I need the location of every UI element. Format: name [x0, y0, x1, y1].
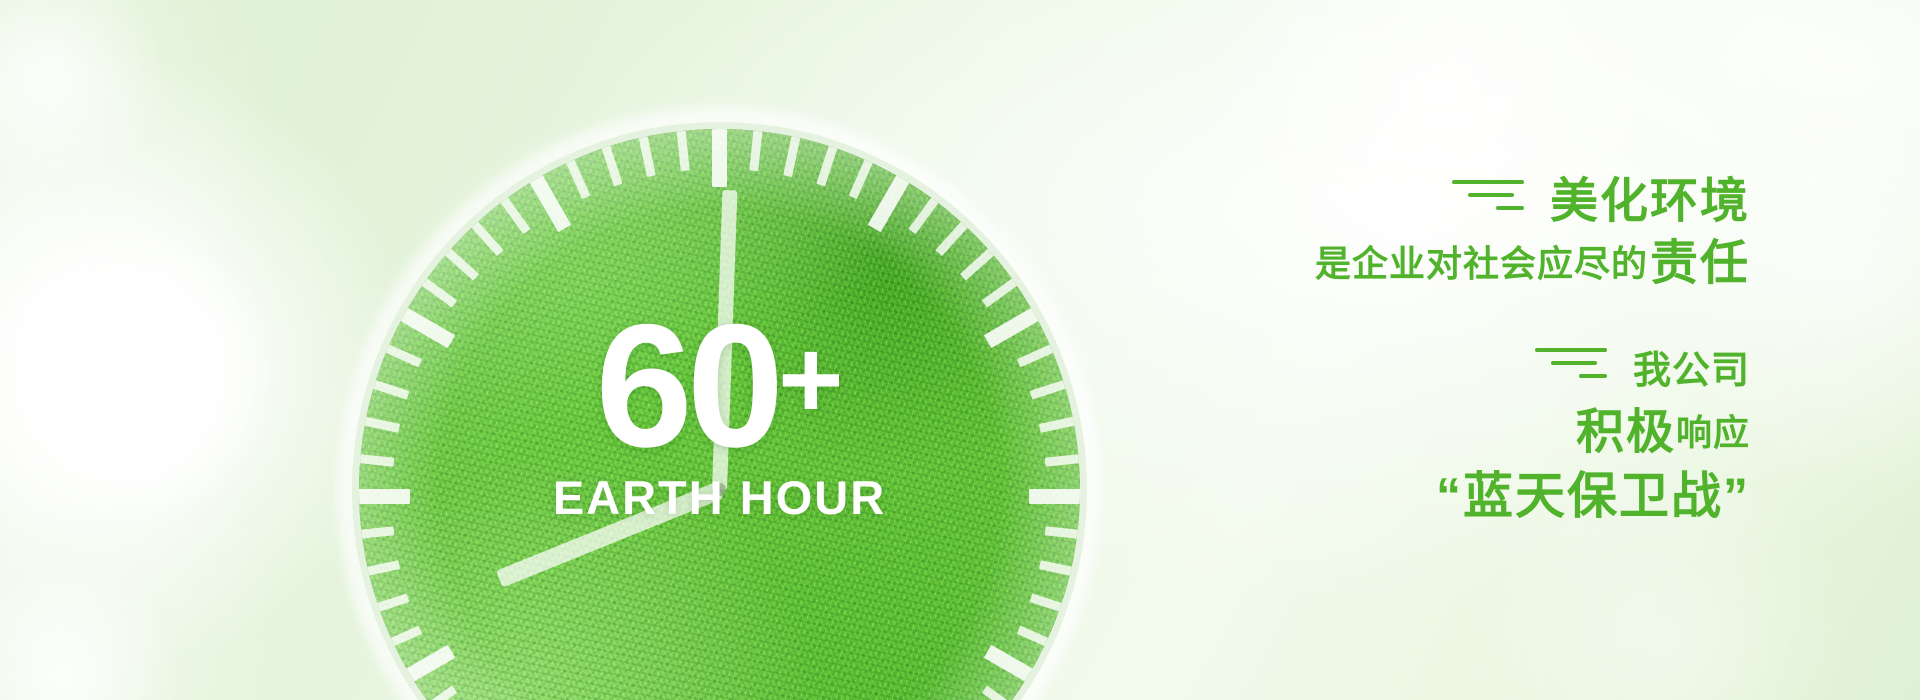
decor-rules-1	[1452, 180, 1524, 219]
decor-rule-medium-icon-2	[1551, 361, 1597, 365]
quoted-slogan: “蓝天保卫战”	[1436, 471, 1750, 521]
decor-rule-long-icon	[1452, 180, 1524, 184]
response-emphasis: 积极	[1576, 409, 1676, 457]
headline-environment: 美化环境	[1550, 178, 1750, 226]
quoted-row: “蓝天保卫战”	[990, 471, 1750, 521]
decor-rule-short-icon	[1496, 206, 1524, 210]
subline-row-1: 是企业对社会应尽的 责任	[990, 240, 1750, 288]
clock-rim: 60+ EARTH HOUR	[352, 122, 1087, 700]
decor-rule-long-icon-2	[1535, 348, 1607, 352]
bokeh-blob-top-left	[0, 0, 170, 190]
clock-center-pin	[713, 483, 726, 496]
headline-row-1: 美化环境	[990, 178, 1750, 226]
copy-block-environment: 美化环境 是企业对社会应尽的 责任	[990, 178, 1750, 288]
bokeh-blob-bottom-left	[0, 560, 190, 700]
headline-row-2: 我公司	[990, 348, 1750, 393]
subline-emphasis: 责任	[1650, 240, 1750, 288]
decor-rule-short-icon-2	[1579, 374, 1607, 378]
copy-block-bluesky: 我公司 积极 响应 “蓝天保卫战”	[990, 348, 1750, 521]
decor-rules-2	[1535, 348, 1607, 387]
earth-hour-clock: 60+ EARTH HOUR	[352, 122, 1087, 700]
decor-rule-medium-icon	[1468, 193, 1514, 197]
bokeh-blob-left	[0, 225, 280, 525]
earth-hour-banner: 60+ EARTH HOUR 美化环境 是企业对社会应尽的 责任	[0, 0, 1920, 700]
response-row: 积极 响应	[990, 409, 1750, 457]
headline-company: 我公司	[1633, 352, 1750, 390]
response-rest: 响应	[1676, 415, 1750, 451]
marketing-copy: 美化环境 是企业对社会应尽的 责任 我公司 积极 响应 “蓝天保卫战	[990, 0, 1750, 521]
subline-prefix: 是企业对社会应尽的	[1315, 246, 1648, 282]
